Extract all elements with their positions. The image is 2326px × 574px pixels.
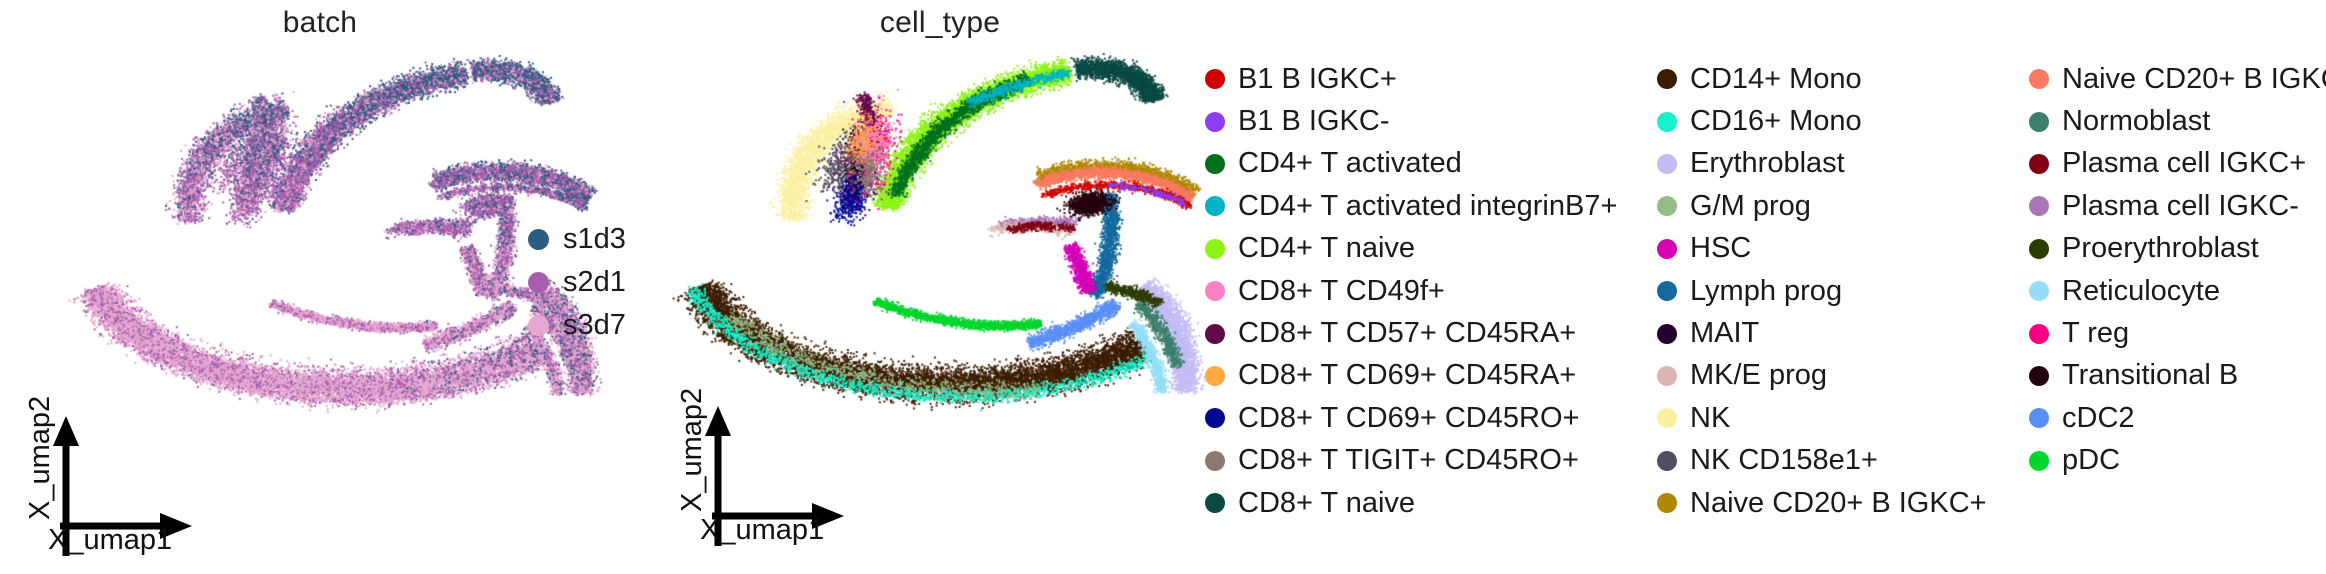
- legend-label: Naive CD20+ B IGKC+: [1690, 489, 1987, 518]
- batch-x-axis-label: X_umap1: [48, 524, 172, 557]
- legend-label: B1 B IGKC+: [1238, 65, 1397, 94]
- legend-label: Plasma cell IGKC+: [2062, 149, 2306, 178]
- legend-item[interactable]: MAIT: [1657, 312, 2029, 354]
- batch-legend: s1d3 s2d1 s3d7: [528, 218, 626, 347]
- legend-label: s1d3: [563, 223, 626, 256]
- legend-item[interactable]: Proerythroblast: [2029, 228, 2326, 270]
- legend-label: CD4+ T activated integrinB7+: [1238, 192, 1617, 221]
- legend-swatch-icon: [2029, 281, 2049, 301]
- legend-swatch-icon: [2029, 196, 2049, 216]
- legend-item[interactable]: Erythroblast: [1657, 143, 2029, 185]
- legend-label: G/M prog: [1690, 192, 1811, 221]
- legend-item[interactable]: B1 B IGKC+: [1205, 58, 1657, 100]
- legend-swatch-icon: [1205, 324, 1225, 344]
- legend-swatch-icon: [2029, 324, 2049, 344]
- legend-swatch-icon: [1205, 281, 1225, 301]
- legend-label: cDC2: [2062, 404, 2135, 433]
- legend-label: CD4+ T activated: [1238, 149, 1462, 178]
- legend-label: CD14+ Mono: [1690, 65, 1862, 94]
- legend-label: Normoblast: [2062, 107, 2210, 136]
- legend-item[interactable]: CD8+ T CD69+ CD45RA+: [1205, 355, 1657, 397]
- cell-type-legend-column-2: CD14+ MonoCD16+ MonoErythroblastG/M prog…: [1657, 58, 2029, 524]
- legend-item[interactable]: NK: [1657, 397, 2029, 439]
- legend-swatch-icon: [1657, 112, 1677, 132]
- legend-item[interactable]: CD8+ T TIGIT+ CD45RO+: [1205, 440, 1657, 482]
- cell-type-legend-column-1: B1 B IGKC+B1 B IGKC-CD4+ T activatedCD4+…: [1205, 58, 1657, 524]
- legend-item[interactable]: Reticulocyte: [2029, 270, 2326, 312]
- legend-label: CD4+ T naive: [1238, 234, 1415, 263]
- legend-item[interactable]: Lymph prog: [1657, 270, 2029, 312]
- legend-label: Proerythroblast: [2062, 234, 2259, 263]
- legend-item[interactable]: CD8+ T naive: [1205, 482, 1657, 524]
- legend-label: CD8+ T CD57+ CD45RA+: [1238, 319, 1576, 348]
- legend-swatch-icon: [1205, 196, 1225, 216]
- legend-label: Plasma cell IGKC-: [2062, 192, 2299, 221]
- cell-type-x-axis-label: X_umap1: [700, 514, 824, 547]
- legend-swatch-icon: [1657, 69, 1677, 89]
- legend-item[interactable]: Naive CD20+ B IGKC-: [2029, 58, 2326, 100]
- legend-item[interactable]: cDC2: [2029, 397, 2326, 439]
- legend-item[interactable]: Plasma cell IGKC-: [2029, 185, 2326, 227]
- cell-type-legend: B1 B IGKC+B1 B IGKC-CD4+ T activatedCD4+…: [1205, 58, 2326, 524]
- legend-label: T reg: [2062, 319, 2129, 348]
- legend-swatch-icon: [1657, 324, 1677, 344]
- batch-y-axis-label: X_umap2: [24, 396, 57, 520]
- panel-batch: batch X_umap1 X_umap2 s1d3 s2d1 s3: [0, 0, 640, 574]
- legend-item[interactable]: CD8+ T CD49f+: [1205, 270, 1657, 312]
- cell-type-legend-column-3: Naive CD20+ B IGKC-NormoblastPlasma cell…: [2029, 58, 2326, 524]
- legend-item[interactable]: CD8+ T CD57+ CD45RA+: [1205, 312, 1657, 354]
- legend-item[interactable]: CD4+ T activated: [1205, 143, 1657, 185]
- legend-label: Lymph prog: [1690, 277, 1842, 306]
- legend-swatch-icon: [1205, 112, 1225, 132]
- legend-item[interactable]: CD16+ Mono: [1657, 100, 2029, 142]
- legend-label: CD8+ T CD69+ CD45RO+: [1238, 404, 1579, 433]
- legend-swatch-icon: [1657, 281, 1677, 301]
- legend-swatch-icon: [528, 272, 549, 293]
- legend-item[interactable]: NK CD158e1+: [1657, 440, 2029, 482]
- legend-item[interactable]: s2d1: [528, 261, 626, 304]
- legend-label: s2d1: [563, 266, 626, 299]
- legend-swatch-icon: [2029, 239, 2049, 259]
- legend-swatch-icon: [1205, 239, 1225, 259]
- legend-swatch-icon: [1205, 451, 1225, 471]
- legend-swatch-icon: [2029, 154, 2049, 174]
- legend-label: Erythroblast: [1690, 149, 1845, 178]
- legend-swatch-icon: [1657, 408, 1677, 428]
- legend-label: MAIT: [1690, 319, 1759, 348]
- legend-swatch-icon: [1657, 493, 1677, 513]
- legend-item[interactable]: Plasma cell IGKC+: [2029, 143, 2326, 185]
- legend-label: Transitional B: [2062, 361, 2238, 390]
- legend-item[interactable]: CD4+ T activated integrinB7+: [1205, 185, 1657, 227]
- legend-label: CD8+ T naive: [1238, 489, 1415, 518]
- legend-swatch-icon: [2029, 408, 2049, 428]
- legend-item[interactable]: CD8+ T CD69+ CD45RO+: [1205, 397, 1657, 439]
- legend-swatch-icon: [1205, 408, 1225, 428]
- legend-swatch-icon: [528, 229, 549, 250]
- legend-swatch-icon: [528, 315, 549, 336]
- legend-swatch-icon: [1205, 366, 1225, 386]
- legend-item[interactable]: s3d7: [528, 304, 626, 347]
- legend-swatch-icon: [1657, 451, 1677, 471]
- figure-root: batch X_umap1 X_umap2 s1d3 s2d1 s3: [0, 0, 2326, 574]
- legend-item[interactable]: MK/E prog: [1657, 355, 2029, 397]
- legend-swatch-icon: [2029, 69, 2049, 89]
- legend-item[interactable]: HSC: [1657, 228, 2029, 270]
- cell-type-y-axis-label: X_umap2: [676, 388, 709, 512]
- legend-label: NK CD158e1+: [1690, 446, 1878, 475]
- legend-label: pDC: [2062, 446, 2120, 475]
- legend-label: Reticulocyte: [2062, 277, 2220, 306]
- legend-item[interactable]: CD4+ T naive: [1205, 228, 1657, 270]
- legend-swatch-icon: [1657, 366, 1677, 386]
- legend-label: MK/E prog: [1690, 361, 1827, 390]
- legend-label: CD8+ T CD49f+: [1238, 277, 1445, 306]
- legend-swatch-icon: [1657, 196, 1677, 216]
- legend-item[interactable]: B1 B IGKC-: [1205, 100, 1657, 142]
- legend-swatch-icon: [2029, 366, 2049, 386]
- legend-item[interactable]: G/M prog: [1657, 185, 2029, 227]
- legend-swatch-icon: [1205, 154, 1225, 174]
- legend-item[interactable]: CD14+ Mono: [1657, 58, 2029, 100]
- legend-item[interactable]: pDC: [2029, 440, 2326, 482]
- legend-label: B1 B IGKC-: [1238, 107, 1390, 136]
- legend-label: CD16+ Mono: [1690, 107, 1862, 136]
- legend-label: CD8+ T TIGIT+ CD45RO+: [1238, 446, 1579, 475]
- legend-label: s3d7: [563, 309, 626, 342]
- legend-label: Naive CD20+ B IGKC-: [2062, 65, 2326, 94]
- legend-item[interactable]: T reg: [2029, 312, 2326, 354]
- legend-item[interactable]: Naive CD20+ B IGKC+: [1657, 482, 2029, 524]
- legend-swatch-icon: [1657, 239, 1677, 259]
- legend-swatch-icon: [2029, 112, 2049, 132]
- legend-swatch-icon: [1205, 69, 1225, 89]
- legend-label: HSC: [1690, 234, 1751, 263]
- legend-label: CD8+ T CD69+ CD45RA+: [1238, 361, 1576, 390]
- legend-swatch-icon: [1205, 493, 1225, 513]
- legend-label: NK: [1690, 404, 1730, 433]
- legend-swatch-icon: [1657, 154, 1677, 174]
- legend-swatch-icon: [2029, 451, 2049, 471]
- legend-item[interactable]: Normoblast: [2029, 100, 2326, 142]
- panel-cell-type: cell_type X_umap1 X_umap2: [660, 0, 1220, 574]
- legend-item[interactable]: s1d3: [528, 218, 626, 261]
- legend-item[interactable]: Transitional B: [2029, 355, 2326, 397]
